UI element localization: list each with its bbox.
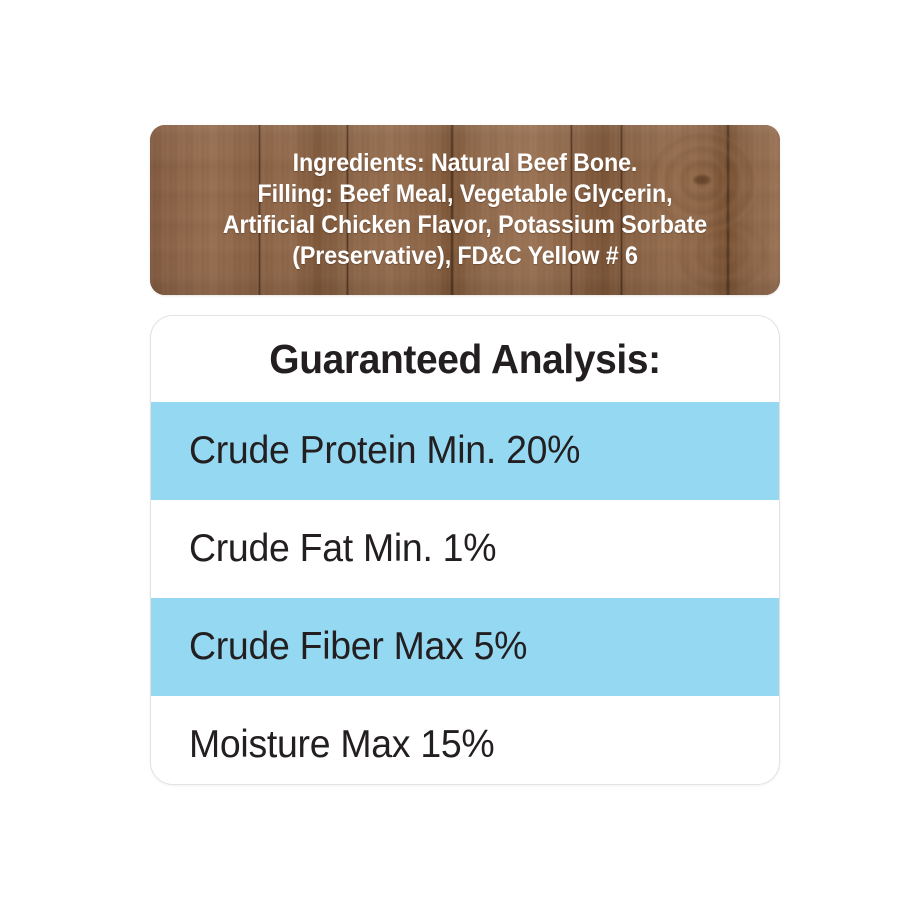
analysis-row-crude-protein: Crude Protein Min. 20% [151,402,779,500]
label-canvas: Ingredients: Natural Beef Bone. Filling:… [0,0,900,900]
analysis-row-label: Crude Fiber Max 5% [189,625,527,669]
ingredients-line-2: Filling: Beef Meal, Vegetable Glycerin, [257,179,672,210]
analysis-title: Guaranteed Analysis: [269,336,660,383]
analysis-row-crude-fat: Crude Fat Min. 1% [151,500,779,598]
analysis-row-crude-fiber: Crude Fiber Max 5% [151,598,779,696]
ingredients-line-4: (Preservative), FD&C Yellow # 6 [292,241,638,272]
analysis-header: Guaranteed Analysis: [151,316,779,402]
ingredients-panel: Ingredients: Natural Beef Bone. Filling:… [150,125,780,295]
ingredients-line-1: Ingredients: Natural Beef Bone. [293,148,638,179]
guaranteed-analysis-panel: Guaranteed Analysis: Crude Protein Min. … [150,315,780,785]
analysis-row-label: Crude Protein Min. 20% [189,429,580,473]
analysis-row-label: Moisture Max 15% [189,723,494,767]
ingredients-text-block: Ingredients: Natural Beef Bone. Filling:… [172,125,758,295]
analysis-row-label: Crude Fat Min. 1% [189,527,496,571]
ingredients-line-3: Artificial Chicken Flavor, Potassium Sor… [223,210,707,241]
analysis-row-moisture: Moisture Max 15% [151,696,779,785]
